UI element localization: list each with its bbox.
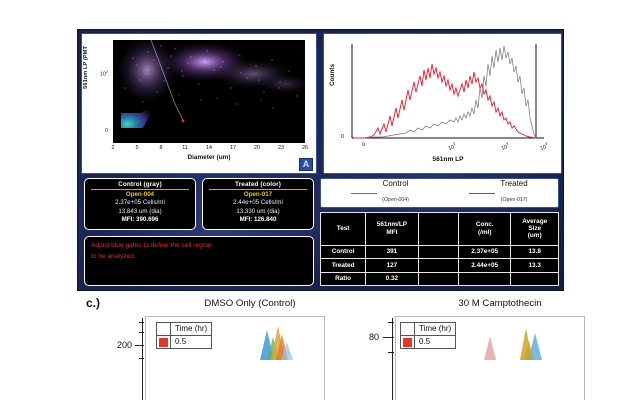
control-box-divider	[91, 189, 189, 190]
header-blank	[418, 213, 458, 246]
campto-legend-swatch-cell	[401, 336, 415, 349]
cell-control-mfi: 391	[366, 245, 418, 258]
header-test: Test	[321, 213, 366, 246]
plots-row: 561nm LP (PMT 102 0	[81, 33, 562, 174]
table-row[interactable]: Ratio 0.32	[321, 272, 559, 286]
gate-instruction-box: Adjust blue gates to define the cell reg…	[84, 236, 314, 286]
treated-info-box[interactable]: Treated (color) Open-017 2.44e+05 Cells/…	[202, 178, 314, 230]
red-swatch-icon	[403, 338, 412, 347]
legend-control-sub: (Open-004)	[382, 197, 409, 203]
cell-ratio-blank	[418, 272, 458, 286]
flow-cytometry-software-panel: 561nm LP (PMT 102 0	[77, 29, 564, 291]
scatter-plot-canvas[interactable]	[113, 40, 305, 143]
histogram-x-tick: 0	[361, 142, 366, 149]
cell-control-size: 13.8	[511, 245, 559, 258]
camptothecin-y-minor-tick	[388, 322, 394, 323]
camptothecin-peaks-overlay	[480, 324, 570, 365]
gate-instruction-line-1: Adjust blue gates to define the cell reg…	[91, 241, 307, 252]
cell-treated-blank	[418, 259, 458, 272]
scatter-x-tick: 14	[206, 145, 212, 151]
histogram-x-tick: 102	[447, 141, 458, 152]
dmso-y-minor-tick	[139, 358, 144, 359]
header-avg-size: AverageSize(um)	[511, 213, 559, 246]
scatter-x-tick: 17	[230, 145, 236, 151]
scatter-x-tick: 8	[160, 145, 163, 151]
treated-box-mfi: MFI: 126.840	[203, 216, 313, 224]
control-box-concentration: 2.37e+05 Cells/ml	[85, 199, 195, 207]
campto-legend-value-row[interactable]: 0.5	[401, 336, 456, 349]
cell-ratio-test: Ratio	[321, 272, 366, 286]
results-table[interactable]: Test 561nm/LPMFI Conc.(/ml) AverageSize(…	[320, 212, 559, 286]
histogram-panel[interactable]: Counts 0 0 102 103 104	[323, 33, 562, 174]
panel-c-label: c.)	[86, 296, 100, 310]
scatter-x-tick: 11	[182, 145, 188, 151]
cell-control-conc: 2.37e+05	[459, 245, 511, 258]
histogram-x-tick: 104	[539, 141, 550, 152]
camptothecin-y-minor-tick	[388, 352, 394, 353]
dmso-y-major-tick	[135, 345, 144, 346]
scatter-y-tick-upper: 102	[94, 70, 108, 78]
dmso-legend-value-row[interactable]: 0.5	[157, 336, 212, 349]
dmso-y-minor-tick	[139, 332, 144, 333]
camptothecin-y-tick-label: 80	[355, 332, 379, 342]
campto-legend-header-label: Time (hr)	[415, 323, 456, 336]
header-conc: Conc.(/ml)	[459, 213, 511, 246]
dmso-chart-title: DMSO Only (Control)	[150, 298, 350, 309]
histogram-canvas[interactable]	[350, 42, 546, 140]
scatter-x-axis: 2 5 8 11 14 17 20 23 26	[113, 144, 305, 153]
dmso-legend-value: 0.5	[171, 336, 212, 349]
treated-line-swatch-icon	[469, 193, 495, 194]
campto-legend-header-swatch-cell	[401, 323, 415, 336]
camptothecin-y-axis	[392, 318, 393, 400]
table-header-row: Test 561nm/LPMFI Conc.(/ml) AverageSize(…	[321, 213, 559, 246]
scatter-x-tick: 26	[302, 145, 308, 151]
series-legend: Control (Open-004) Treated (Open-017)	[320, 178, 559, 208]
legend-item-control: Control (Open-004)	[351, 180, 409, 205]
histogram-x-tick: 103	[499, 141, 510, 152]
camptothecin-chart-title: 30 M Camptothecin	[400, 298, 600, 309]
treated-box-diameter: 13.330 um (dia)	[203, 208, 313, 216]
camptothecin-time-legend[interactable]: Time (hr) 0.5	[400, 322, 456, 349]
cell-control-test: Control	[321, 245, 366, 258]
dmso-legend-header-row: Time (hr)	[157, 323, 212, 336]
cell-ratio-mfi: 0.32	[366, 272, 418, 286]
cell-ratio-conc	[459, 272, 511, 286]
legend-item-treated: Treated (Open-017)	[469, 180, 527, 205]
red-swatch-icon	[159, 338, 168, 347]
cell-treated-test: Treated	[321, 259, 366, 272]
legend-treated-label: Treated	[500, 180, 527, 188]
dmso-legend-header-label: Time (hr)	[171, 323, 212, 336]
header-mfi: 561nm/LPMFI	[366, 213, 418, 246]
histogram-y-axis-label: Counts	[329, 64, 336, 86]
control-box-open-id: Open-004	[85, 191, 195, 199]
treated-box-title: Treated (color)	[203, 181, 313, 189]
scatter-y-axis-label: 561nm LP (PMT	[83, 46, 89, 89]
control-box-mfi: MFI: 390.696	[85, 216, 195, 224]
cell-treated-conc: 2.44e+05	[459, 259, 511, 272]
scatter-plot-panel[interactable]: 561nm LP (PMT 102 0	[81, 33, 317, 174]
cell-ratio-size	[511, 272, 559, 286]
control-box-diameter: 13.843 um (dia)	[85, 208, 195, 216]
panel-c: c.) DMSO Only (Control) 200 Time (hr) 0.…	[0, 292, 640, 400]
cell-treated-mfi: 127	[366, 259, 418, 272]
campto-legend-value: 0.5	[415, 336, 456, 349]
scatter-x-tick: 23	[278, 145, 284, 151]
control-line-swatch-icon	[351, 193, 377, 194]
histogram-x-axis-label: 561nm LP	[350, 156, 546, 163]
dmso-y-minor-tick	[139, 322, 144, 323]
treated-box-open-id: Open-017	[203, 191, 313, 199]
histogram-y-tick-zero: 0	[341, 134, 344, 140]
camptothecin-peaks-svg	[480, 324, 570, 360]
scatter-y-tick-zero: 0	[94, 128, 108, 134]
cell-treated-size: 13.3	[511, 259, 559, 272]
dmso-legend-swatch-cell	[157, 336, 171, 349]
legend-treated-sub: (Open-017)	[501, 197, 528, 203]
table-row[interactable]: Treated 127 2.44e+05 13.3	[321, 259, 559, 272]
dmso-y-axis	[142, 318, 143, 400]
control-info-box[interactable]: Control (gray) Open-004 2.37e+05 Cells/m…	[84, 178, 196, 230]
gate-instruction-line-2: to be analyzed.	[91, 252, 307, 263]
scatter-x-tick: 20	[254, 145, 260, 151]
control-box-title: Control (gray)	[85, 181, 195, 189]
histogram-x-axis: 0 102 103 104	[350, 140, 546, 150]
scatter-density-svg	[113, 40, 305, 143]
campto-legend-header-row: Time (hr)	[401, 323, 456, 336]
screenshot-root: 561nm LP (PMT 102 0	[0, 0, 640, 400]
cell-control-blank	[418, 245, 458, 258]
legend-control-label: Control	[382, 180, 409, 188]
treated-box-concentration: 2.44e+05 Cells/ml	[203, 199, 313, 207]
treated-box-divider	[209, 189, 307, 190]
histogram-svg	[350, 42, 546, 140]
dmso-time-legend[interactable]: Time (hr) 0.5	[156, 322, 212, 349]
table-row[interactable]: Control 391 2.37e+05 13.8	[321, 245, 559, 258]
app-logo-icon[interactable]: A	[299, 158, 313, 171]
dmso-peaks-svg	[254, 324, 304, 360]
dmso-y-tick-label: 200	[96, 340, 132, 350]
dmso-peaks-overlay	[254, 324, 304, 365]
scatter-x-tick: 5	[136, 145, 139, 151]
camptothecin-y-major-tick	[383, 337, 394, 338]
dmso-legend-header-swatch-cell	[157, 323, 171, 336]
scatter-x-tick: 2	[112, 145, 115, 151]
scatter-x-axis-label: Diameter (um)	[113, 154, 305, 161]
